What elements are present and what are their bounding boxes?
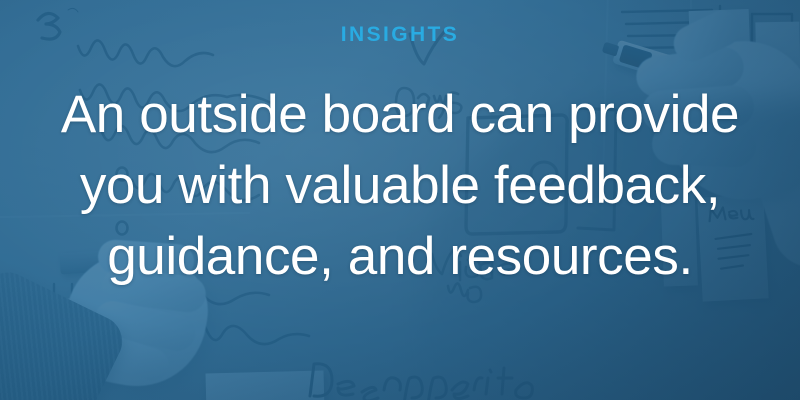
headline: An outside board can provide you with va… (20, 79, 780, 292)
headline-line-2: you with valuable feedback, (20, 150, 780, 221)
eyebrow-label: INSIGHTS (341, 24, 459, 45)
headline-line-3: guidance, and resources. (20, 221, 780, 292)
card-content: INSIGHTS An outside board can provide yo… (0, 0, 800, 400)
headline-line-1: An outside board can provide (20, 79, 780, 150)
quote-card: INSIGHTS An outside board can provide yo… (0, 0, 800, 400)
